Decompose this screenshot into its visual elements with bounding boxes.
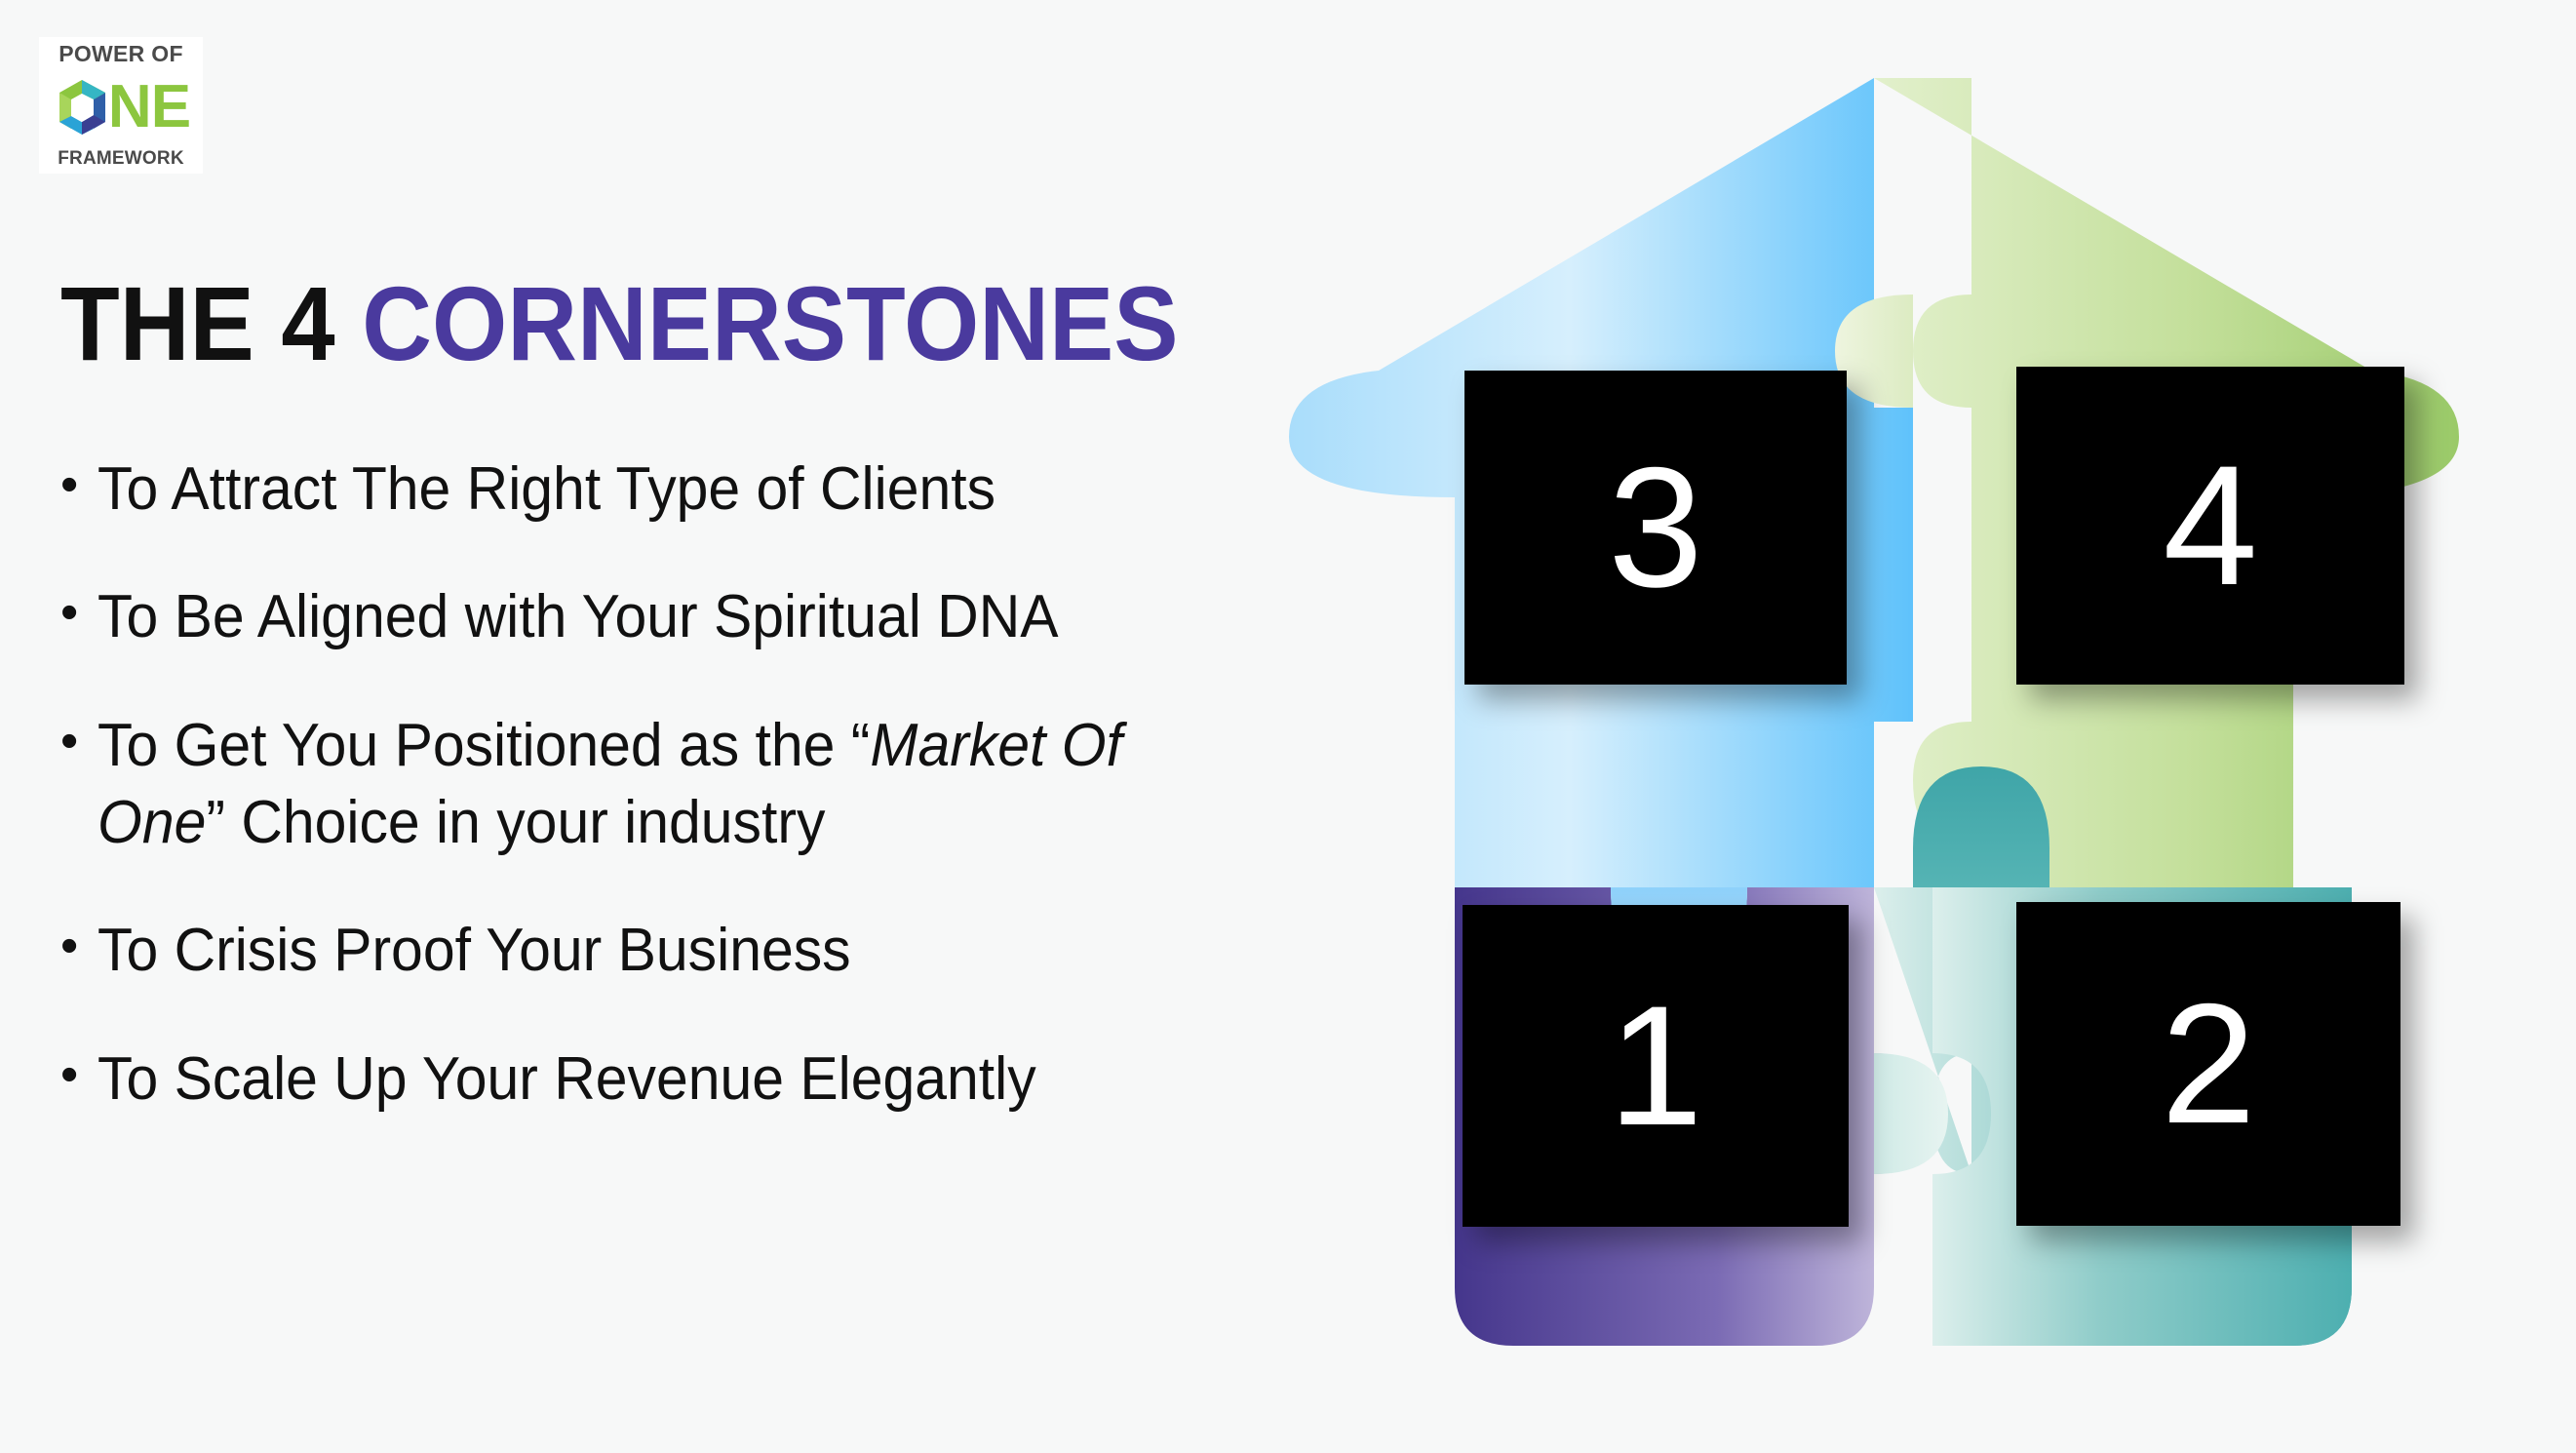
list-item-label: To Attract The Right Type of Clients xyxy=(98,451,1238,528)
bullet-marker-icon: • xyxy=(60,578,98,648)
cornerstone-card-3[interactable]: 3 xyxy=(1464,371,1847,685)
list-item-label: To Get You Positioned as the “Market Of … xyxy=(98,707,1238,862)
cornerstone-card-number: 3 xyxy=(1608,443,1702,613)
page-title-black: THE 4 xyxy=(60,264,335,382)
logo-line-power-of: POWER OF xyxy=(59,43,183,65)
page-title: THE 4 CORNERSTONES xyxy=(60,271,1179,376)
list-item: • To Attract The Right Type of Clients xyxy=(60,451,1299,528)
cornerstone-card-4[interactable]: 4 xyxy=(2016,367,2404,685)
brand-logo: POWER OF NE FRAMEWORK xyxy=(39,37,203,174)
list-item-text-post: ” Choice in your industry xyxy=(206,789,825,856)
bullet-marker-icon: • xyxy=(60,912,98,982)
cornerstone-card-number: 2 xyxy=(2161,979,2255,1150)
bullet-marker-icon: • xyxy=(60,451,98,521)
logo-wordmark: NE xyxy=(43,75,199,139)
cornerstone-card-number: 1 xyxy=(1608,981,1702,1152)
list-item-text-pre: To Get You Positioned as the “ xyxy=(98,712,870,779)
bullet-marker-icon: • xyxy=(60,707,98,777)
list-item-label: To Be Aligned with Your Spiritual DNA xyxy=(98,578,1238,655)
benefits-list: • To Attract The Right Type of Clients •… xyxy=(60,451,1299,1118)
hexagon-cube-icon xyxy=(52,77,112,137)
logo-line-framework: FRAMEWORK xyxy=(58,149,184,168)
list-item: • To Be Aligned with Your Spiritual DNA xyxy=(60,578,1299,655)
slide-root: POWER OF NE FRAMEWORK THE 4 CORNERSTONES xyxy=(0,0,2576,1453)
list-item: • To Scale Up Your Revenue Elegantly xyxy=(60,1041,1299,1118)
page-title-accent: CORNERSTONES xyxy=(362,264,1178,382)
list-item-label: To Scale Up Your Revenue Elegantly xyxy=(98,1041,1238,1118)
logo-word-ne: NE xyxy=(108,79,190,135)
list-item-label: To Crisis Proof Your Business xyxy=(98,912,1238,989)
cornerstone-card-1[interactable]: 1 xyxy=(1463,905,1849,1227)
cornerstone-card-2[interactable]: 2 xyxy=(2016,902,2400,1226)
cornerstone-card-number: 4 xyxy=(2163,441,2257,611)
puzzle-tab-teal-up xyxy=(1913,766,2049,887)
list-item: • To Crisis Proof Your Business xyxy=(60,912,1299,989)
bullet-marker-icon: • xyxy=(60,1041,98,1111)
list-item: • To Get You Positioned as the “Market O… xyxy=(60,707,1299,862)
